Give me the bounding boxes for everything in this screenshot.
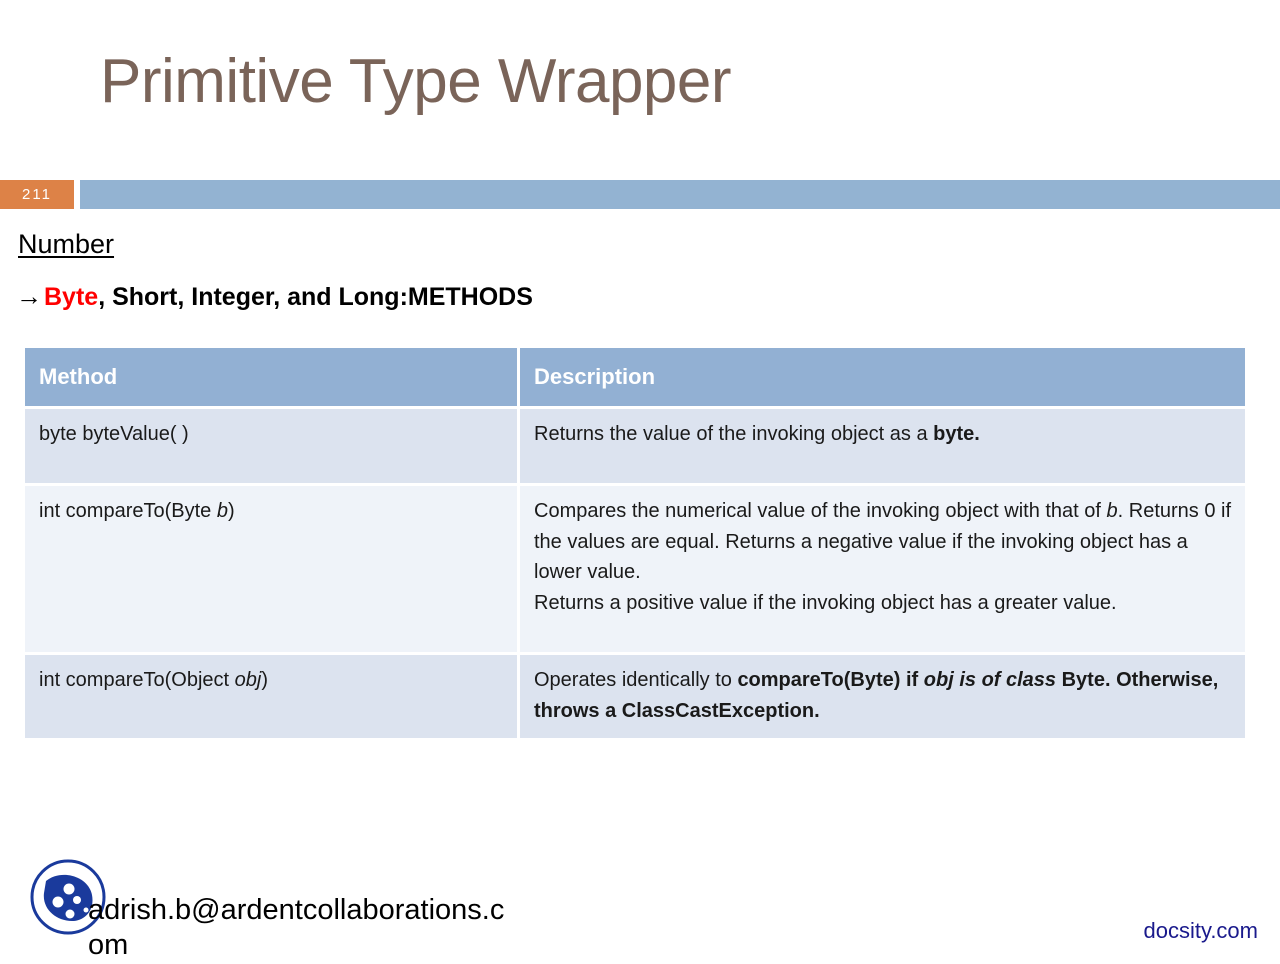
column-header-method: Method [25, 348, 517, 406]
column-header-description: Description [520, 348, 1245, 406]
header-accent-bar [80, 180, 1280, 209]
section-heading: Number [18, 228, 114, 260]
table-row: int compareTo(Object obj) Operates ident… [25, 655, 1245, 738]
table-row: byte byteValue( ) Returns the value of t… [25, 409, 1245, 483]
table-header-row: Method Description [25, 348, 1245, 406]
cell-description: Operates identically to compareTo(Byte) … [520, 655, 1245, 738]
cell-description: Compares the numerical value of the invo… [520, 486, 1245, 652]
page-title: Primitive Type Wrapper [100, 48, 731, 116]
slide-number-badge: 211 [0, 180, 74, 209]
cell-description: Returns the value of the invoking object… [520, 409, 1245, 483]
cell-method: int compareTo(Byte b) [25, 486, 517, 652]
cell-method: byte byteValue( ) [25, 409, 517, 483]
cell-method: int compareTo(Object obj) [25, 655, 517, 738]
slide-number-bar: 211 [0, 180, 1280, 209]
table-body: byte byteValue( ) Returns the value of t… [25, 409, 1245, 738]
watermark: docsity.com [1143, 918, 1258, 944]
table-row: int compareTo(Byte b) Compares the numer… [25, 486, 1245, 652]
bullet-rest: , Short, Integer, and Long:METHODS [98, 282, 533, 312]
bullet-keyword: Byte [44, 282, 98, 312]
methods-table: Method Description byte byteValue( ) Ret… [22, 345, 1248, 741]
bullet-line: → Byte , Short, Integer, and Long:METHOD… [16, 281, 533, 312]
contact-email: adrish.b@ardentcollaborations.com [88, 893, 518, 964]
arrow-right-icon: → [16, 281, 42, 312]
